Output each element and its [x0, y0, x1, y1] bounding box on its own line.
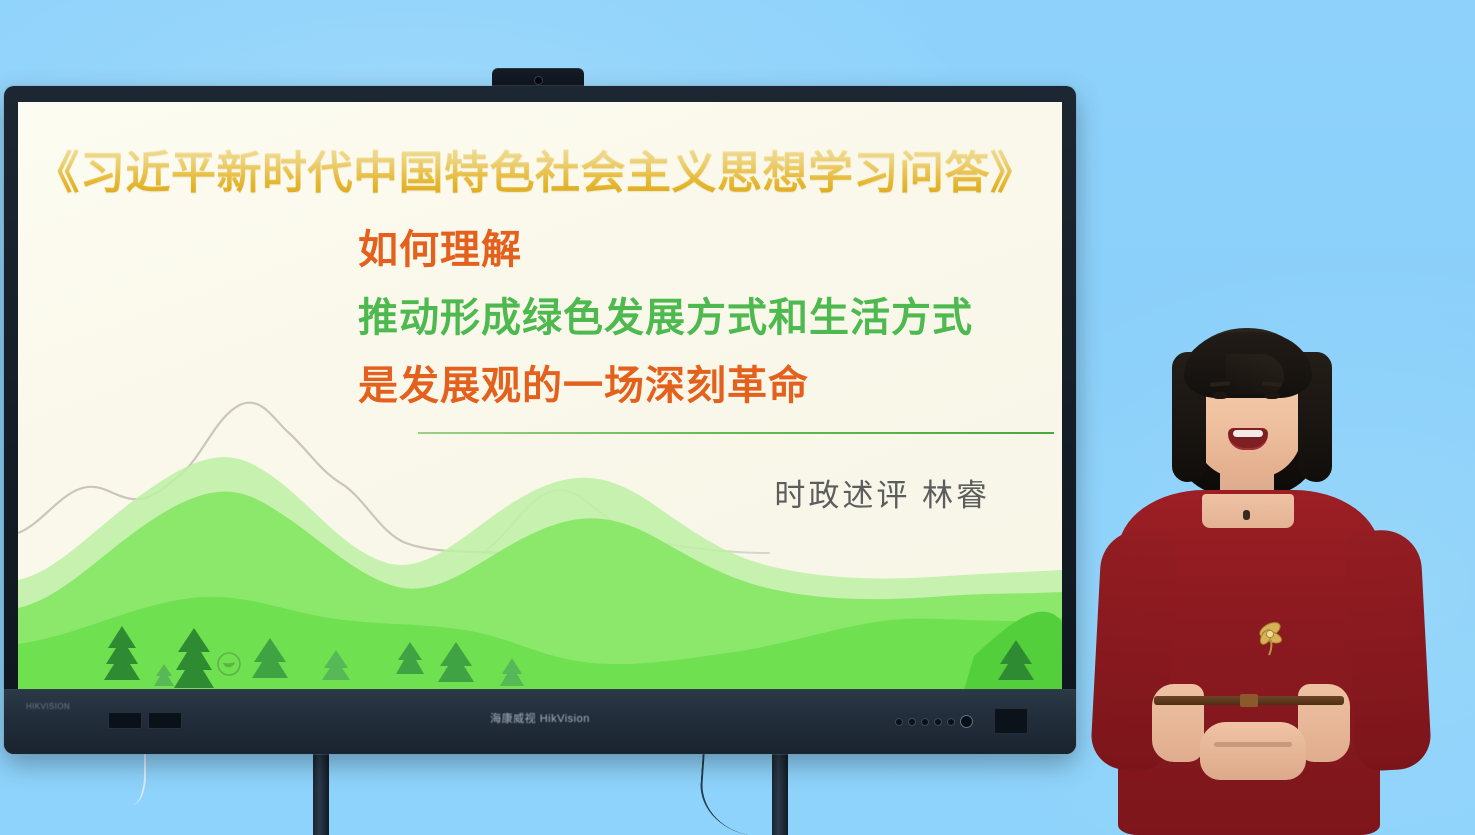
panel-port[interactable] — [108, 712, 142, 729]
slide-screen[interactable]: 《习近平新时代中国特色社会主义思想学习问答》 如何理解 推动形成绿色发展方式和生… — [18, 102, 1062, 690]
arm-right — [1344, 528, 1432, 772]
eye-right — [1264, 392, 1280, 399]
power-button[interactable] — [961, 716, 972, 727]
clasped-hands — [1200, 722, 1306, 780]
slide-line-2: 推动形成绿色发展方式和生活方式 — [358, 298, 1062, 338]
slide-line-1: 如何理解 — [358, 230, 1062, 270]
panel-brand-logo: 海康威视 HikVision — [490, 710, 590, 726]
panel-key[interactable] — [948, 719, 954, 725]
slide-line-3: 是发展观的一场深刻革命 — [358, 366, 1062, 406]
stand-leg-left — [313, 752, 329, 835]
slide-byline: 时政述评 林睿 — [774, 470, 990, 515]
presenter — [1060, 318, 1460, 835]
studio-scene: 《习近平新时代中国特色社会主义思想学习问答》 如何理解 推动形成绿色发展方式和生… — [0, 0, 1475, 835]
camera-lens-icon — [535, 77, 542, 84]
brooch-icon — [1246, 610, 1294, 658]
panel-key[interactable] — [935, 719, 941, 725]
green-hills-illustration — [18, 430, 1062, 690]
belt — [1154, 696, 1344, 705]
panel-key[interactable] — [909, 719, 915, 725]
slide-divider — [418, 432, 1054, 434]
power-cable — [697, 747, 785, 835]
interactive-flat-panel[interactable]: 《习近平新时代中国特色社会主义思想学习问答》 如何理解 推动形成绿色发展方式和生… — [4, 86, 1076, 754]
panel-key[interactable] — [922, 719, 928, 725]
slide-title: 《习近平新时代中国特色社会主义思想学习问答》 — [18, 136, 1052, 201]
hair-fringe — [1184, 332, 1312, 398]
panel-bottom-bezel: HIKVISION 海康威视 HikVision — [4, 689, 1076, 754]
leaf-emblem-icon — [216, 651, 242, 677]
panel-module-slot[interactable] — [994, 708, 1028, 734]
eye-left — [1212, 392, 1228, 399]
panel-key[interactable] — [896, 719, 902, 725]
panel-port-panel[interactable] — [108, 712, 182, 729]
pendant-necklace — [1243, 510, 1250, 520]
panel-brand-left: HIKVISION — [26, 702, 70, 711]
panel-control-keys[interactable] — [896, 716, 972, 727]
panel-port[interactable] — [148, 712, 182, 729]
slide-body: 如何理解 推动形成绿色发展方式和生活方式 是发展观的一场深刻革命 — [358, 230, 1062, 434]
